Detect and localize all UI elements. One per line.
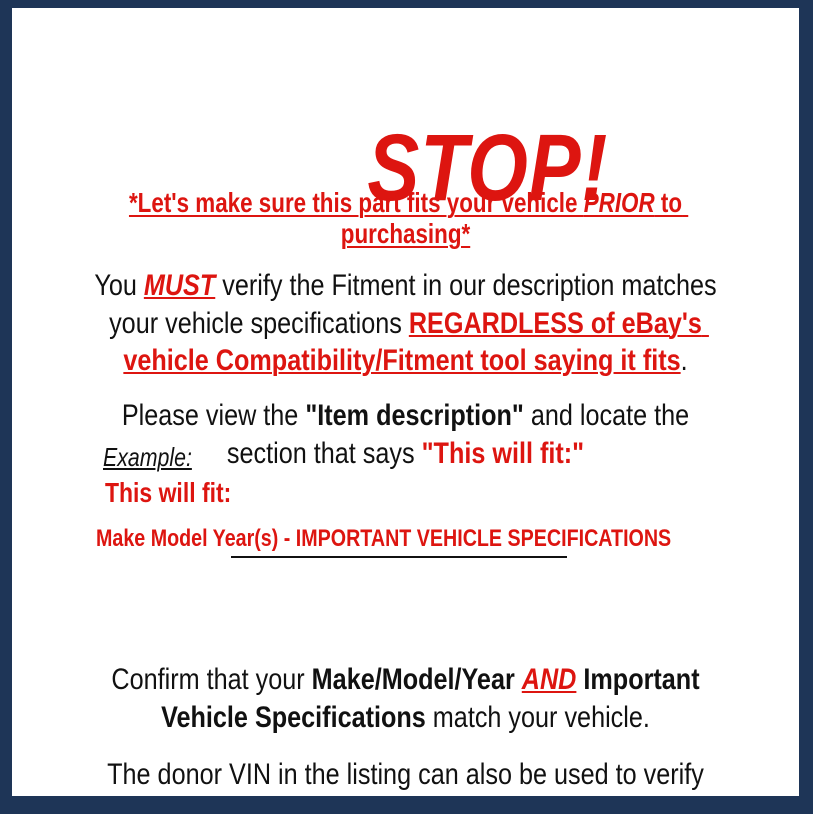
para-must-emphasis-must: MUST: [144, 269, 215, 302]
example-spec-line: Make Model Year(s) - IMPORTANT VEHICLE S…: [12, 500, 799, 578]
notice-inner-panel: STOP! *Let's make sure this part fits yo…: [8, 4, 803, 800]
closing-line-text: Thank you for confirming Fitment!: [221, 793, 641, 800]
fitment-notice-card: STOP! *Let's make sure this part fits yo…: [0, 0, 813, 814]
example-spec-line-text: Make Model Year(s) - IMPORTANT VEHICLE S…: [96, 526, 671, 552]
para-must-s1: You: [94, 269, 144, 302]
closing-line: Thank you for confirming Fitment!: [12, 761, 799, 800]
horizontal-divider: [231, 556, 567, 558]
